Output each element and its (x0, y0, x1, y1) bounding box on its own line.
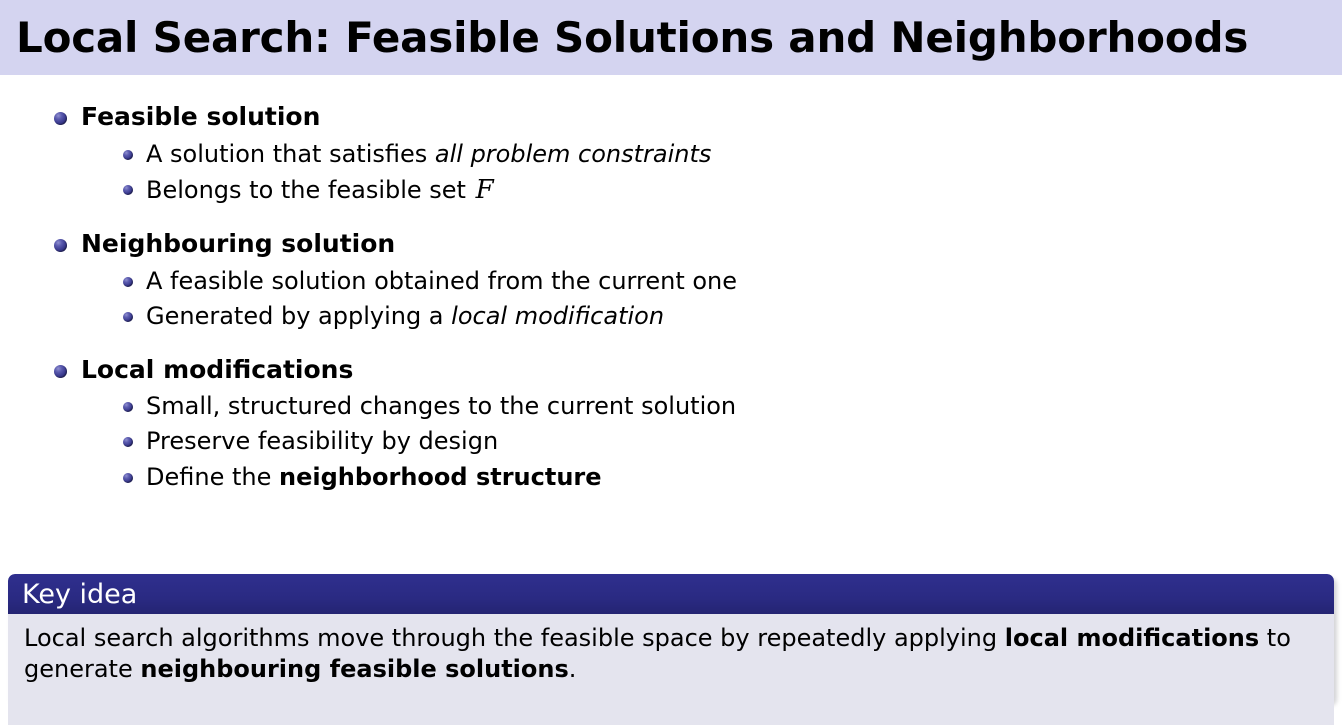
key-idea-block: Key idea Local search algorithms move th… (8, 574, 1334, 725)
sublist-item-text: Belongs to the feasible set F (146, 175, 494, 207)
section-heading: Feasible solution (81, 103, 320, 131)
text-bold: neighbouring feasible solutions (140, 655, 568, 683)
text-plain: Belongs to the feasible set (146, 176, 474, 204)
bullet-sphere-icon (123, 437, 133, 447)
key-idea-body-text: Local search algorithms move through the… (24, 623, 1318, 685)
slide-content: Feasible solution A solution that satisf… (0, 75, 1342, 565)
text-plain: . (569, 655, 577, 683)
bullet-sphere-icon (123, 277, 133, 287)
bullet-item-level1: Local modifications (0, 356, 1342, 384)
sublist: A solution that satisfies all problem co… (0, 140, 1342, 207)
sublist-item-text: Define the neighborhood structure (146, 463, 602, 492)
bullet-item-level2: Belongs to the feasible set F (0, 175, 1342, 207)
sublist-item-text: Small, structured changes to the current… (146, 392, 736, 421)
bullet-sphere-icon (54, 112, 67, 125)
text-plain: Generated by applying a (146, 302, 451, 330)
key-idea-header-title: Key idea (8, 581, 137, 608)
bullet-sphere-icon (123, 185, 133, 195)
calligraphic-F-symbol: F (474, 175, 494, 205)
bullet-sphere-icon (123, 150, 133, 160)
key-idea-block-inner: Key idea Local search algorithms move th… (8, 574, 1334, 725)
page-title: Local Search: Feasible Solutions and Nei… (0, 17, 1248, 59)
bullet-item-level2: A solution that satisfies all problem co… (0, 140, 1342, 169)
section-feasible-solution: Feasible solution A solution that satisf… (0, 103, 1342, 206)
bullet-sphere-icon (123, 402, 133, 412)
section-neighbouring-solution: Neighbouring solution A feasible solutio… (0, 230, 1342, 331)
text-bold: neighborhood structure (279, 463, 602, 491)
section-heading: Neighbouring solution (81, 230, 395, 258)
text-plain: A solution that satisfies (146, 140, 435, 168)
text-plain: Define the (146, 463, 279, 491)
slide-title-bar: Local Search: Feasible Solutions and Nei… (0, 0, 1342, 75)
bullet-item-level2: Define the neighborhood structure (0, 463, 1342, 492)
section-heading: Local modifications (81, 356, 353, 384)
text-bold: local modifications (1005, 624, 1259, 652)
bullet-item-level2: Preserve feasibility by design (0, 427, 1342, 456)
key-idea-body: Local search algorithms move through the… (8, 614, 1334, 725)
text-plain: Local search algorithms move through the… (24, 624, 1005, 652)
bullet-sphere-icon (123, 312, 133, 322)
bullet-sphere-icon (54, 365, 67, 378)
text-italic: all problem constraints (435, 140, 712, 168)
bullet-sphere-icon (123, 473, 133, 483)
sublist: Small, structured changes to the current… (0, 392, 1342, 492)
key-idea-header: Key idea (8, 574, 1334, 614)
bullet-item-level2: A feasible solution obtained from the cu… (0, 267, 1342, 296)
bullet-item-level1: Feasible solution (0, 103, 1342, 131)
bullet-item-level2: Small, structured changes to the current… (0, 392, 1342, 421)
sublist-item-text: Preserve feasibility by design (146, 427, 498, 456)
sublist-item-text: A feasible solution obtained from the cu… (146, 267, 737, 296)
sublist-item-text: A solution that satisfies all problem co… (146, 140, 711, 169)
bullet-sphere-icon (54, 239, 67, 252)
sublist: A feasible solution obtained from the cu… (0, 267, 1342, 332)
bullet-item-level2: Generated by applying a local modificati… (0, 302, 1342, 331)
section-local-modifications: Local modifications Small, structured ch… (0, 356, 1342, 492)
sublist-item-text: Generated by applying a local modificati… (146, 302, 664, 331)
bullet-item-level1: Neighbouring solution (0, 230, 1342, 258)
text-italic: local modification (451, 302, 664, 330)
